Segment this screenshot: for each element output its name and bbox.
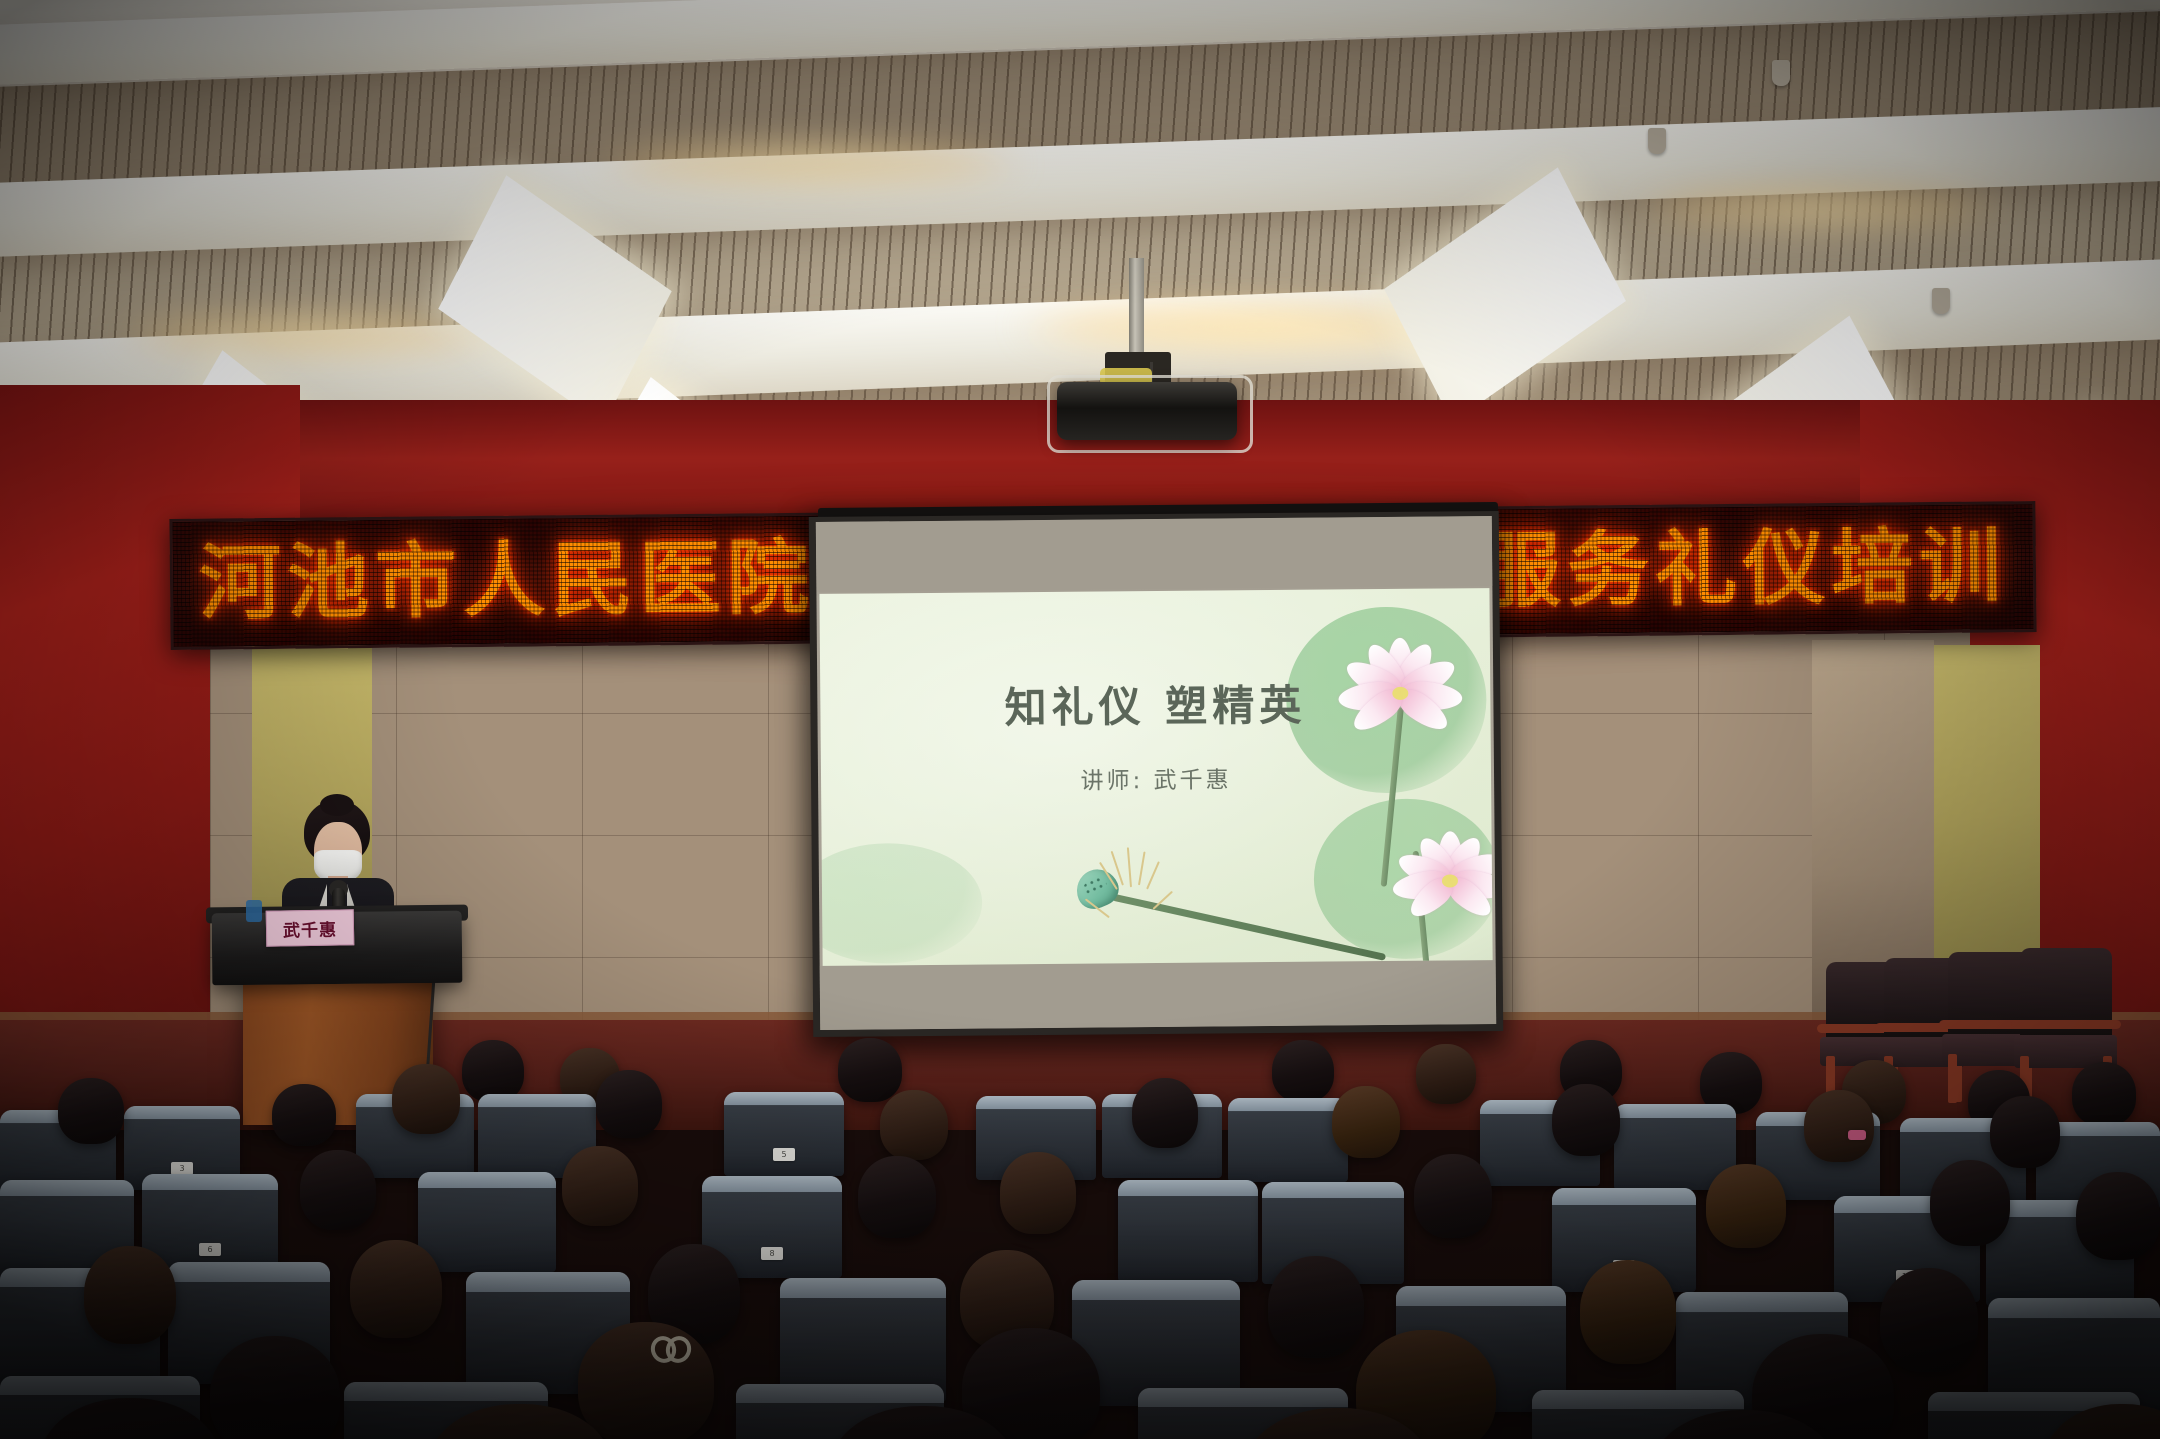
- audience-head: [838, 1038, 902, 1102]
- audience-head: [84, 1246, 176, 1344]
- auditorium-seat: [418, 1172, 556, 1272]
- audience-head: [858, 1156, 936, 1238]
- audience-head: [1268, 1256, 1364, 1358]
- audience-head: [392, 1064, 460, 1134]
- audience-head: [272, 1084, 336, 1146]
- lotus-seed-holes: [1081, 874, 1109, 898]
- audience-head-foreground: [210, 1336, 340, 1439]
- audience-head: [1930, 1160, 2010, 1246]
- audience-head: [1880, 1268, 1978, 1372]
- audience-head: [1990, 1096, 2060, 1168]
- lotus-flower-lower: [1369, 816, 1492, 947]
- audience-head: [1706, 1164, 1786, 1248]
- auditorium-seat: [1118, 1180, 1258, 1282]
- slide-title: 知礼仪 塑精英: [820, 670, 1491, 737]
- audience-head: [350, 1240, 442, 1338]
- audience-head: [562, 1146, 638, 1226]
- audience-head: [1132, 1078, 1198, 1148]
- audience-head: [300, 1150, 376, 1230]
- presentation-slide: 知礼仪 塑精英 讲师: 武千惠: [819, 588, 1492, 966]
- audience-head: [880, 1090, 948, 1160]
- projection-screen: 知礼仪 塑精英 讲师: 武千惠: [816, 516, 1496, 1030]
- audience-head: [58, 1078, 124, 1144]
- slide-subtitle: 讲师: 武千惠: [821, 758, 1491, 798]
- sprinkler-head: [1772, 60, 1790, 86]
- auditorium-seat: [1228, 1098, 1348, 1182]
- audience-head: [596, 1070, 662, 1138]
- sprinkler-head: [1932, 288, 1950, 314]
- audience-head: [2072, 1062, 2136, 1126]
- lotus-center: [1442, 874, 1458, 887]
- audience-head: [1332, 1086, 1400, 1158]
- audience-head-foreground: [578, 1322, 714, 1439]
- ceiling-light: [600, 140, 1020, 188]
- auditorium-scene: 河池市人民医院 行服务礼仪培训: [0, 0, 2160, 1439]
- audience-head: [1416, 1044, 1476, 1104]
- hair-clip: [1848, 1130, 1866, 1140]
- screen-letterbox-bottom: [820, 960, 1497, 1030]
- water-bottle: [246, 900, 262, 922]
- screen-letterbox-top: [816, 516, 1493, 592]
- hair-bow: [654, 1332, 688, 1358]
- audience-head: [1414, 1154, 1492, 1238]
- ceiling-light: [120, 310, 500, 360]
- podium-nameplate: 武千惠: [266, 909, 355, 947]
- audience-head: [2076, 1172, 2160, 1260]
- sprinkler-head: [1648, 128, 1666, 154]
- podium-nameplate-text: 武千惠: [283, 915, 337, 941]
- audience-head: [1272, 1040, 1334, 1102]
- auditorium-seat: 5: [724, 1092, 844, 1176]
- led-banner-text-left: 河池市人民医院: [199, 537, 816, 625]
- audience-head: [1552, 1084, 1620, 1156]
- audience-head: [1000, 1152, 1076, 1234]
- projector-body: [1057, 382, 1237, 440]
- audience-head: [1804, 1090, 1874, 1162]
- ceiling-light: [1640, 185, 2000, 231]
- audience-head: [1580, 1260, 1676, 1364]
- audience-head: [462, 1040, 524, 1102]
